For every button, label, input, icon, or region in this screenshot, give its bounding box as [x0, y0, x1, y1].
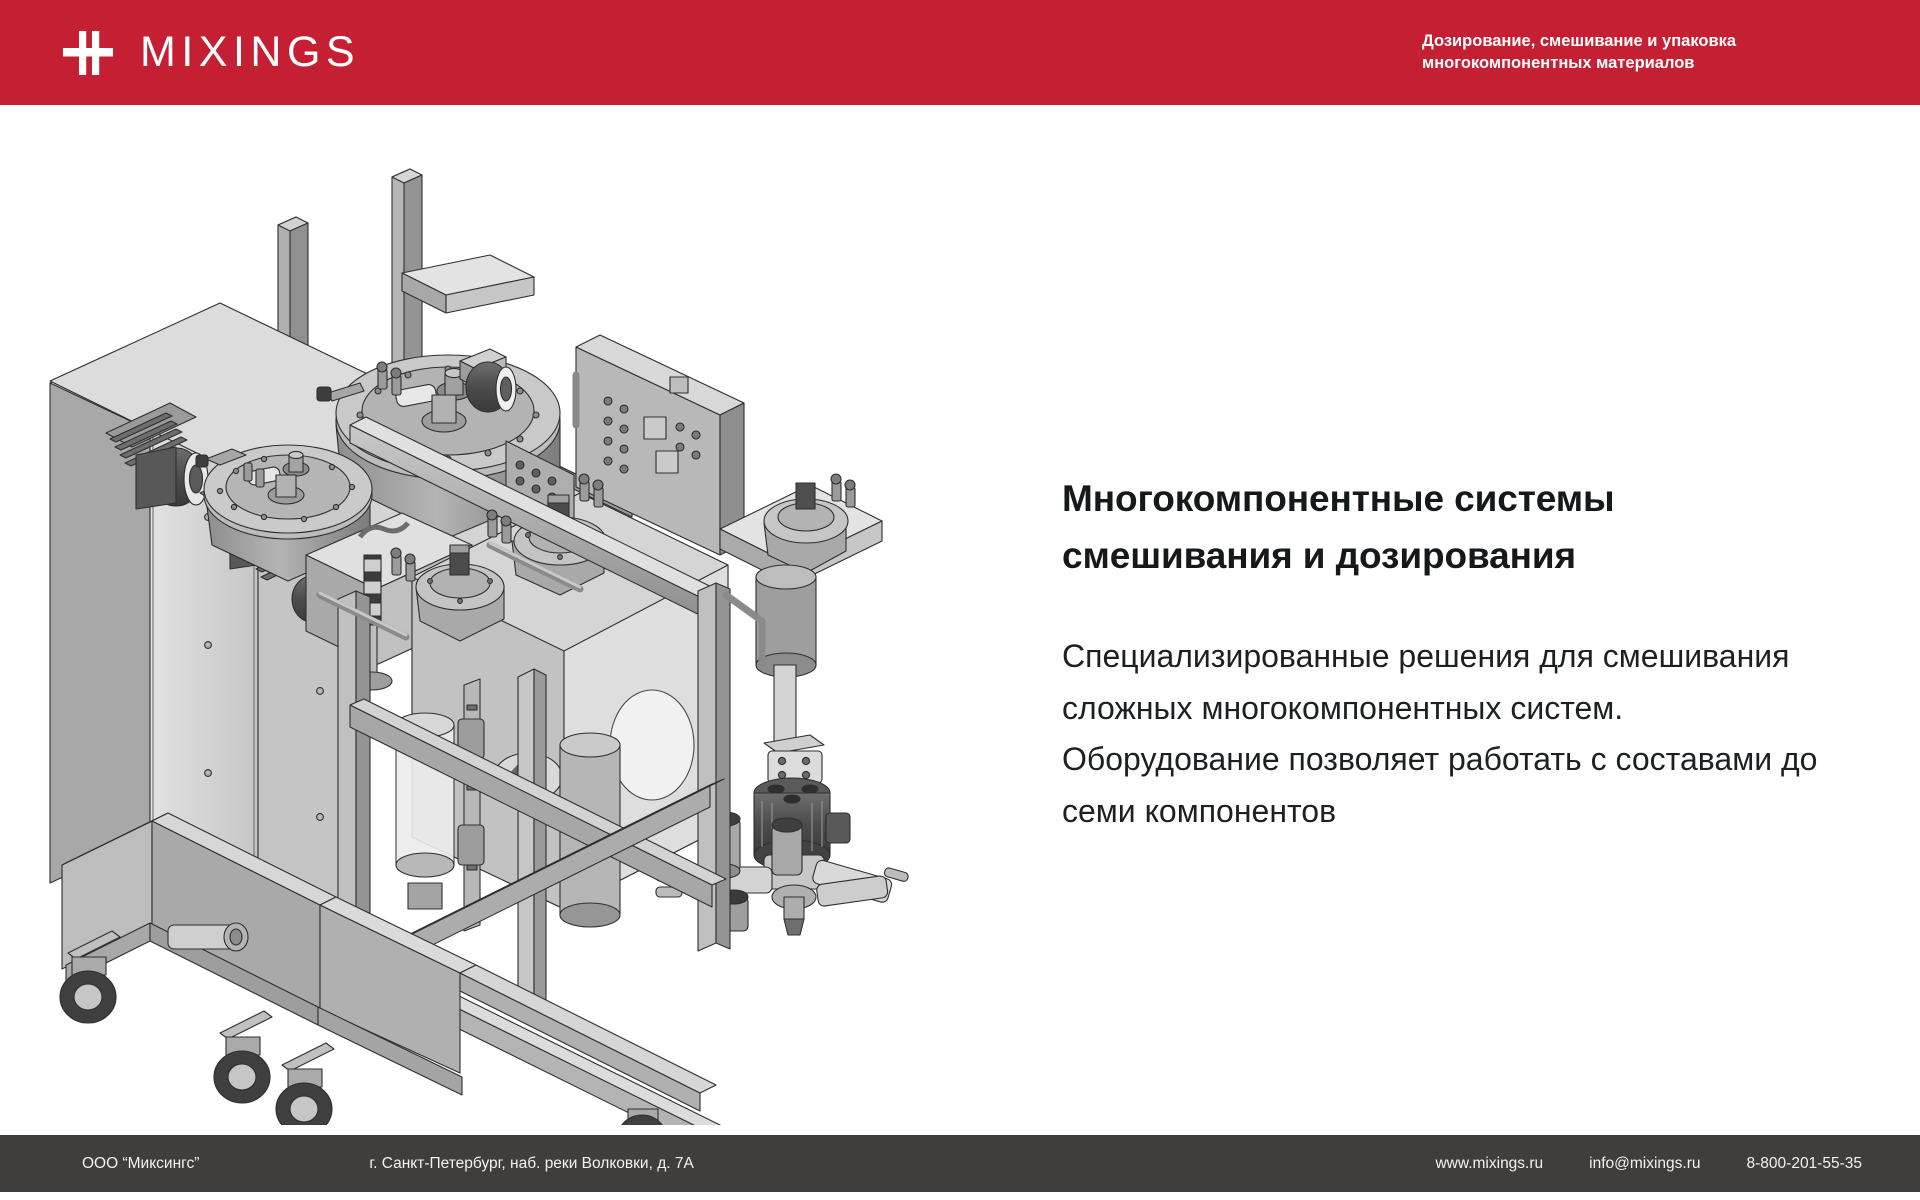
- footer-bottom-strip: [0, 1192, 1920, 1200]
- multi-component-mixing-dosing-machine-render: [20, 125, 1030, 1125]
- presentation-slide: MIXINGS Дозирование, смешивание и упаков…: [0, 0, 1920, 1200]
- brand-lockup[interactable]: MIXINGS: [62, 30, 360, 76]
- slide-copy: Многокомпонентные системы смешивания и д…: [1062, 470, 1822, 838]
- caster-wheel: [276, 1043, 334, 1125]
- footer-contacts-group: www.mixings.ru info@mixings.ru 8-800-201…: [1435, 1155, 1862, 1173]
- hash-plus-logo-icon: [62, 30, 114, 76]
- footer-email[interactable]: info@mixings.ru: [1589, 1155, 1700, 1173]
- footer-company: ООО “Миксингс”: [82, 1155, 199, 1173]
- page-description: Специализированные решения для смешивани…: [1062, 631, 1822, 838]
- footer-website[interactable]: www.mixings.ru: [1435, 1155, 1543, 1173]
- brand-name: MIXINGS: [140, 31, 360, 74]
- machine-illustration: [20, 125, 1030, 1125]
- footer-address: г. Санкт-Петербург, наб. реки Волковки, …: [369, 1155, 693, 1173]
- pneumatic-accumulator: [772, 818, 802, 875]
- discharge-nozzle: [168, 923, 248, 951]
- footer-left-group: ООО “Миксингс” г. Санкт-Петербург, наб. …: [0, 1155, 694, 1173]
- caster-wheel: [214, 1011, 272, 1103]
- page-header: MIXINGS Дозирование, смешивание и упаков…: [0, 0, 1920, 105]
- page-footer: ООО “Миксингс” г. Санкт-Петербург, наб. …: [0, 1135, 1920, 1192]
- footer-phone[interactable]: 8-800-201-55-35: [1747, 1155, 1862, 1173]
- header-tagline: Дозирование, смешивание и упаковка много…: [1422, 31, 1862, 75]
- page-title: Многокомпонентные системы смешивания и д…: [1062, 470, 1822, 585]
- slide-body: Многокомпонентные системы смешивания и д…: [0, 105, 1920, 1135]
